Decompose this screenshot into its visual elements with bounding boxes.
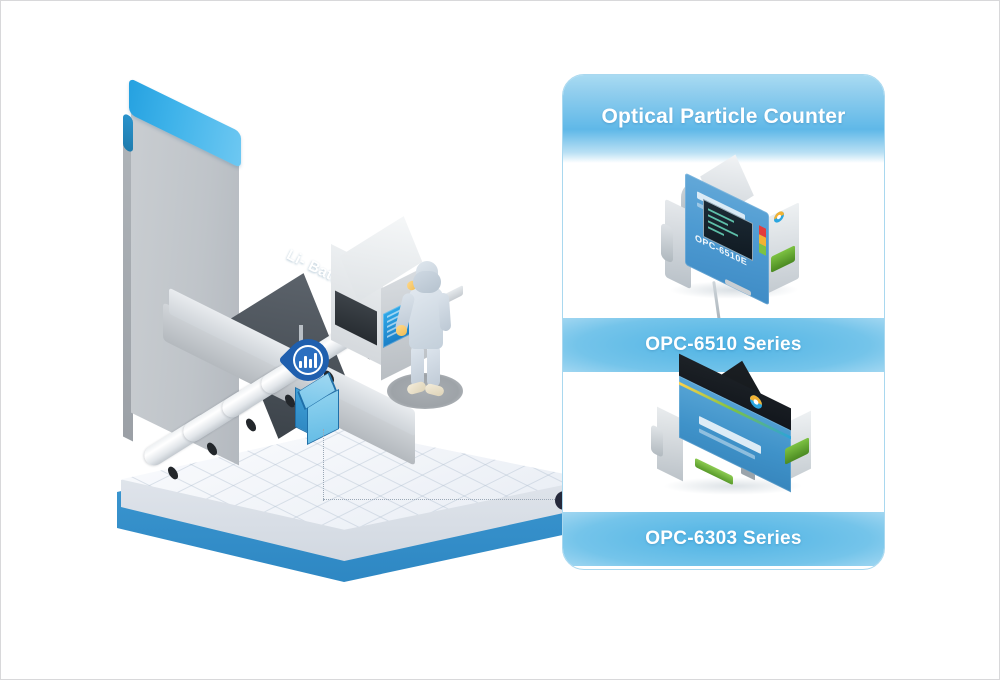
worker-hood bbox=[413, 271, 441, 293]
leader-line-horizontal bbox=[323, 499, 561, 500]
device-mount-bracket bbox=[661, 222, 673, 264]
device-render-opc-6303 bbox=[649, 373, 819, 503]
device-render-opc-6510: OPC-6510E bbox=[659, 181, 809, 311]
series-label-opc-6303: OPC-6303 Series bbox=[645, 528, 802, 550]
stage: Li- Battery Fabrication bbox=[1, 1, 1000, 681]
product-panel: Optical Particle Counter bbox=[562, 74, 885, 570]
series-band-opc-6303: OPC-6303 Series bbox=[563, 512, 884, 566]
product-image-opc-6510[interactable]: OPC-6510E bbox=[563, 171, 884, 319]
series-label-opc-6510: OPC-6510 Series bbox=[645, 334, 802, 356]
factory-scene-illustration: Li- Battery Fabrication bbox=[101, 111, 621, 611]
bar-chart-icon bbox=[299, 352, 317, 368]
series-band-opc-6510: OPC-6510 Series bbox=[563, 318, 884, 372]
worker-glove-lower bbox=[396, 325, 407, 336]
product-image-opc-6303[interactable] bbox=[563, 365, 884, 513]
worker-arm-left bbox=[438, 293, 452, 332]
location-pin[interactable] bbox=[287, 339, 331, 397]
cleanroom-worker bbox=[391, 261, 461, 421]
page-frame: Li- Battery Fabrication bbox=[0, 0, 1000, 680]
panel-title: Optical Particle Counter bbox=[563, 105, 884, 129]
device-mount-ear bbox=[651, 424, 663, 458]
leader-line-vertical bbox=[323, 429, 324, 501]
wall-banner-edge bbox=[123, 113, 133, 154]
roller-end-cap bbox=[244, 417, 258, 433]
worker-leg-right bbox=[427, 345, 440, 387]
roller-end-cap bbox=[166, 465, 180, 481]
roller-end-cap bbox=[205, 441, 219, 457]
